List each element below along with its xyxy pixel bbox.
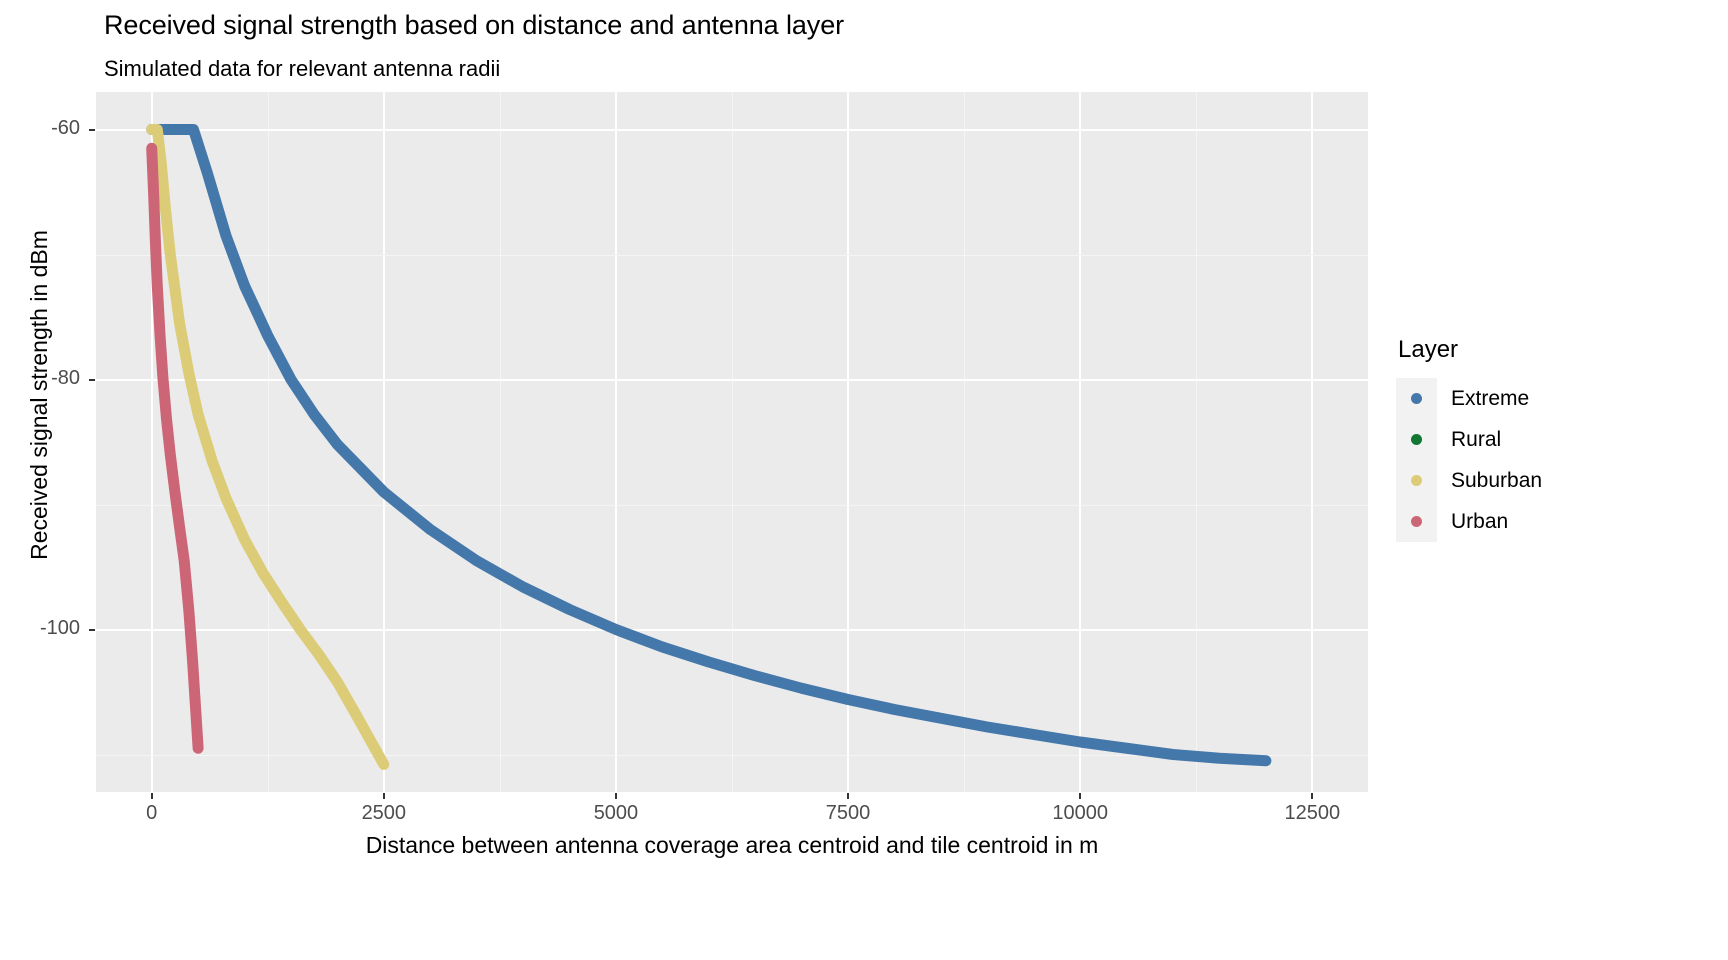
x-axis-title: Distance between antenna coverage area c…	[96, 832, 1368, 859]
x-tick-mark	[1311, 793, 1313, 799]
x-tick-label: 5000	[546, 802, 686, 825]
legend-item-suburban[interactable]: Suburban	[1396, 460, 1542, 501]
x-tick-label: 10000	[1010, 802, 1150, 825]
plot-subtitle: Simulated data for relevant antenna radi…	[104, 56, 500, 82]
legend-key-swatch	[1396, 460, 1437, 501]
legend-item-urban[interactable]: Urban	[1396, 501, 1542, 542]
legend-point-icon	[1411, 434, 1422, 445]
legend-item-label: Rural	[1451, 428, 1501, 452]
legend-point-icon	[1411, 516, 1422, 527]
y-tick-mark	[89, 129, 95, 131]
x-tick-label: 7500	[778, 802, 918, 825]
x-tick-label: 2500	[314, 802, 454, 825]
y-tick-label: -60	[0, 117, 80, 140]
x-tick-mark	[1079, 793, 1081, 799]
legend-title: Layer	[1398, 336, 1542, 364]
y-axis-title: Received signal strength in dBm	[26, 45, 56, 745]
legend-item-label: Urban	[1451, 510, 1508, 534]
legend-point-icon	[1411, 475, 1422, 486]
x-tick-label: 0	[82, 802, 222, 825]
legend-key-swatch	[1396, 419, 1437, 460]
x-tick-label: 12500	[1242, 802, 1382, 825]
legend-key-swatch	[1396, 378, 1437, 419]
series-line-urban	[152, 148, 198, 748]
plot-panel	[96, 92, 1368, 792]
y-tick-label: -80	[0, 367, 80, 390]
y-tick-mark	[89, 379, 95, 381]
series-line-extreme	[152, 130, 1266, 761]
chart-root: Received signal strength based on distan…	[0, 0, 1728, 960]
legend-item-label: Suburban	[1451, 469, 1542, 493]
x-tick-mark	[151, 793, 153, 799]
y-tick-mark	[89, 629, 95, 631]
legend-items: ExtremeRuralSuburbanUrban	[1396, 378, 1542, 542]
x-tick-mark	[847, 793, 849, 799]
series-line-suburban	[152, 130, 384, 765]
legend-key-swatch	[1396, 501, 1437, 542]
y-tick-label: -100	[0, 617, 80, 640]
plot-lines	[96, 92, 1368, 792]
x-tick-mark	[383, 793, 385, 799]
legend-point-icon	[1411, 393, 1422, 404]
legend: Layer ExtremeRuralSuburbanUrban	[1396, 336, 1542, 542]
page-title: Received signal strength based on distan…	[104, 10, 844, 41]
legend-item-rural[interactable]: Rural	[1396, 419, 1542, 460]
x-tick-mark	[615, 793, 617, 799]
legend-item-label: Extreme	[1451, 387, 1529, 411]
legend-item-extreme[interactable]: Extreme	[1396, 378, 1542, 419]
